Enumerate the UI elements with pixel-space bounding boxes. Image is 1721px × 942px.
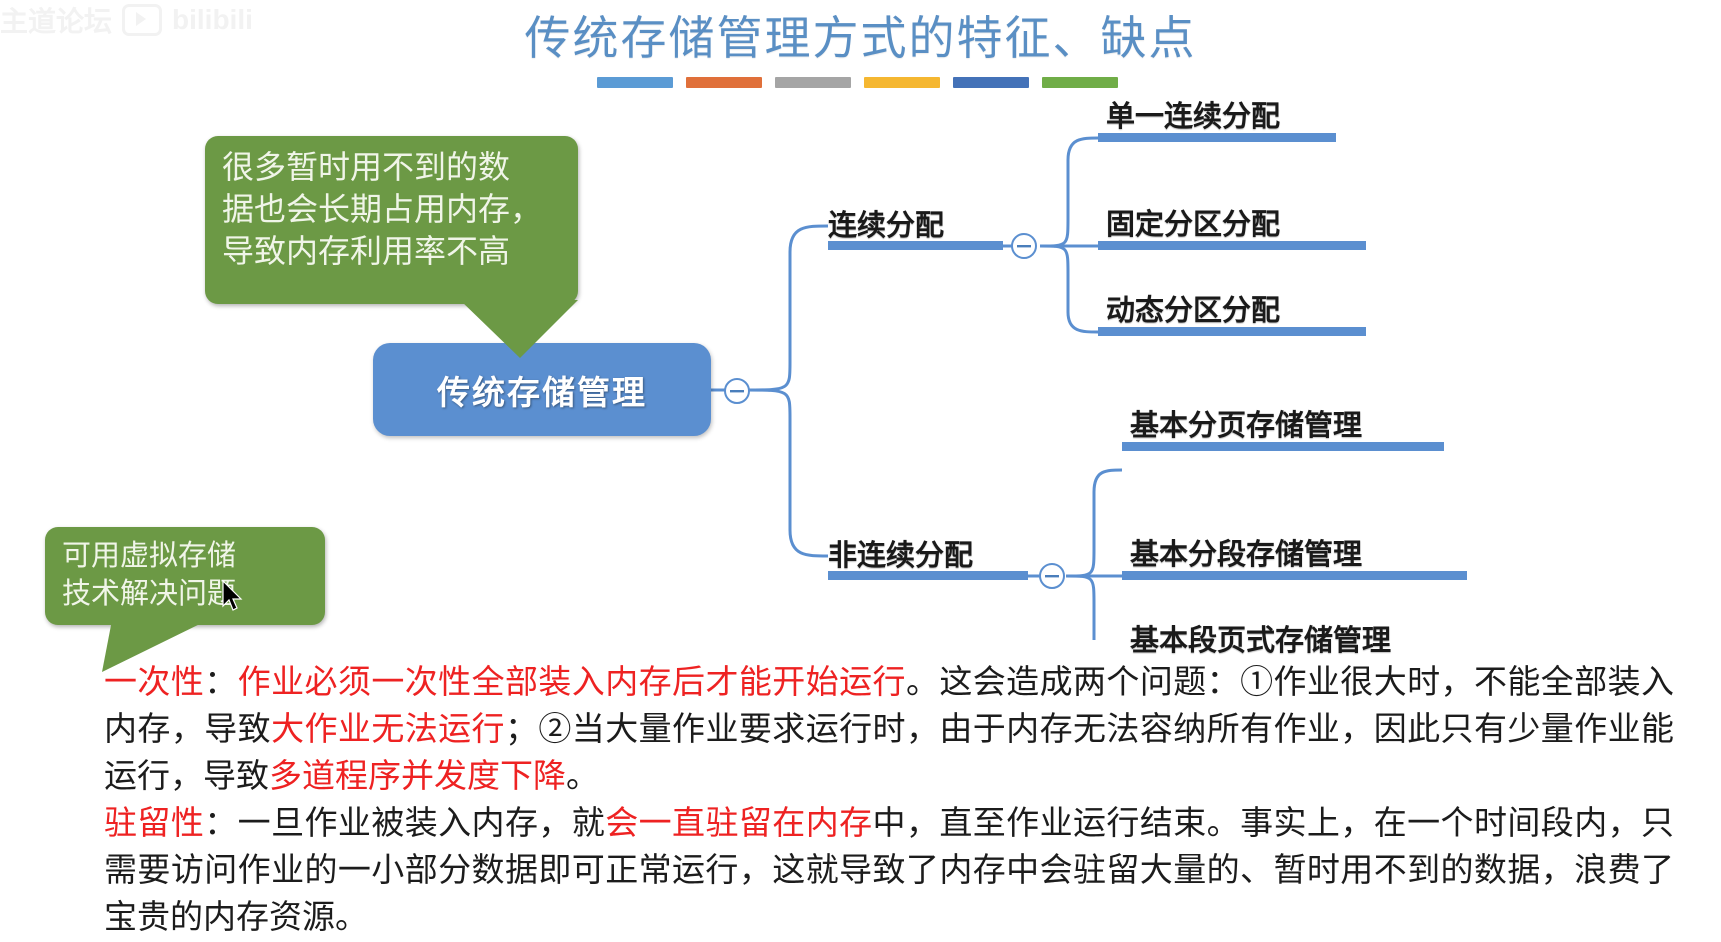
callout-virtual-memory: 可用虚拟存储 技术解决问题 [45,527,325,625]
callout-memory-waste: 很多暂时用不到的数 据也会长期占用内存， 导致内存利用率不高 [205,136,578,304]
mouse-pointer-icon [222,580,244,614]
residency-run-2: ：一旦作业被装入内存，就 [204,806,605,842]
title-decoration-bars [597,77,1118,88]
title-bar-5 [953,77,1029,88]
title-area: 传统存储管理方式的特征、缺点 [0,0,1721,100]
mindmap-leaf-fixed-partition[interactable]: 固定分区分配 [1106,201,1280,243]
mindmap-branch-label-continuous[interactable]: 连续分配 [828,202,944,244]
mindmap-leaf-dynamic-partition[interactable]: 动态分区分配 [1106,287,1280,329]
one-time-run-8: 。 [566,759,599,795]
one-time-run-5: 大作业无法运行 [271,712,505,748]
title-bar-1 [597,77,673,88]
residency-run-3: 会一直驻留在内存 [605,806,872,842]
callout-memory-waste-line-1: 很多暂时用不到的数 [222,146,561,188]
title-bar-2 [686,77,762,88]
paragraph-one-time-loading: 一次性：作业必须一次性全部装入内存后才能开始运行。这会造成两个问题：①作业很大时… [104,660,1674,801]
paragraph-residency: 驻留性：一旦作业被装入内存，就会一直驻留在内存中，直至作业运行结束。事实上，在一… [104,801,1674,942]
one-time-run-3: 作业必须一次性全部装入内存后才能开始运行 [238,665,906,701]
mindmap-leaf-basic-segmentation[interactable]: 基本分段存储管理 [1130,531,1362,573]
mindmap-leaf-basic-segmented-paging[interactable]: 基本段页式存储管理 [1130,617,1391,659]
callout-memory-waste-line-3: 导致内存利用率不高 [222,230,561,272]
circle-minus-icon[interactable] [1010,232,1038,260]
body-text-block: 一次性：作业必须一次性全部装入内存后才能开始运行。这会造成两个问题：①作业很大时… [104,660,1674,942]
one-time-run-1: 一次性 [104,665,204,701]
residency-run-1: 驻留性 [104,806,204,842]
one-time-run-2: ： [204,665,237,701]
title-bar-3 [775,77,851,88]
page-title: 传统存储管理方式的特征、缺点 [0,2,1721,68]
mindmap-leaf-basic-paging[interactable]: 基本分页存储管理 [1130,402,1362,444]
mindmap-root-label: 传统存储管理 [437,366,647,414]
mindmap-branch-label-noncontinuous[interactable]: 非连续分配 [828,532,973,574]
callout-memory-waste-tail [460,296,580,360]
title-bar-4 [864,77,940,88]
title-bar-6 [1042,77,1118,88]
circle-minus-icon[interactable] [1038,562,1066,590]
one-time-run-7: 多道程序并发度下降 [269,759,566,795]
callout-virtual-memory-line-1: 可用虚拟存储 [62,537,308,575]
callout-memory-waste-line-2: 据也会长期占用内存， [222,188,561,230]
mindmap-leaf-single-continuous[interactable]: 单一连续分配 [1106,93,1280,135]
circle-minus-icon[interactable] [723,377,751,405]
callout-virtual-memory-line-2: 技术解决问题 [62,575,308,613]
